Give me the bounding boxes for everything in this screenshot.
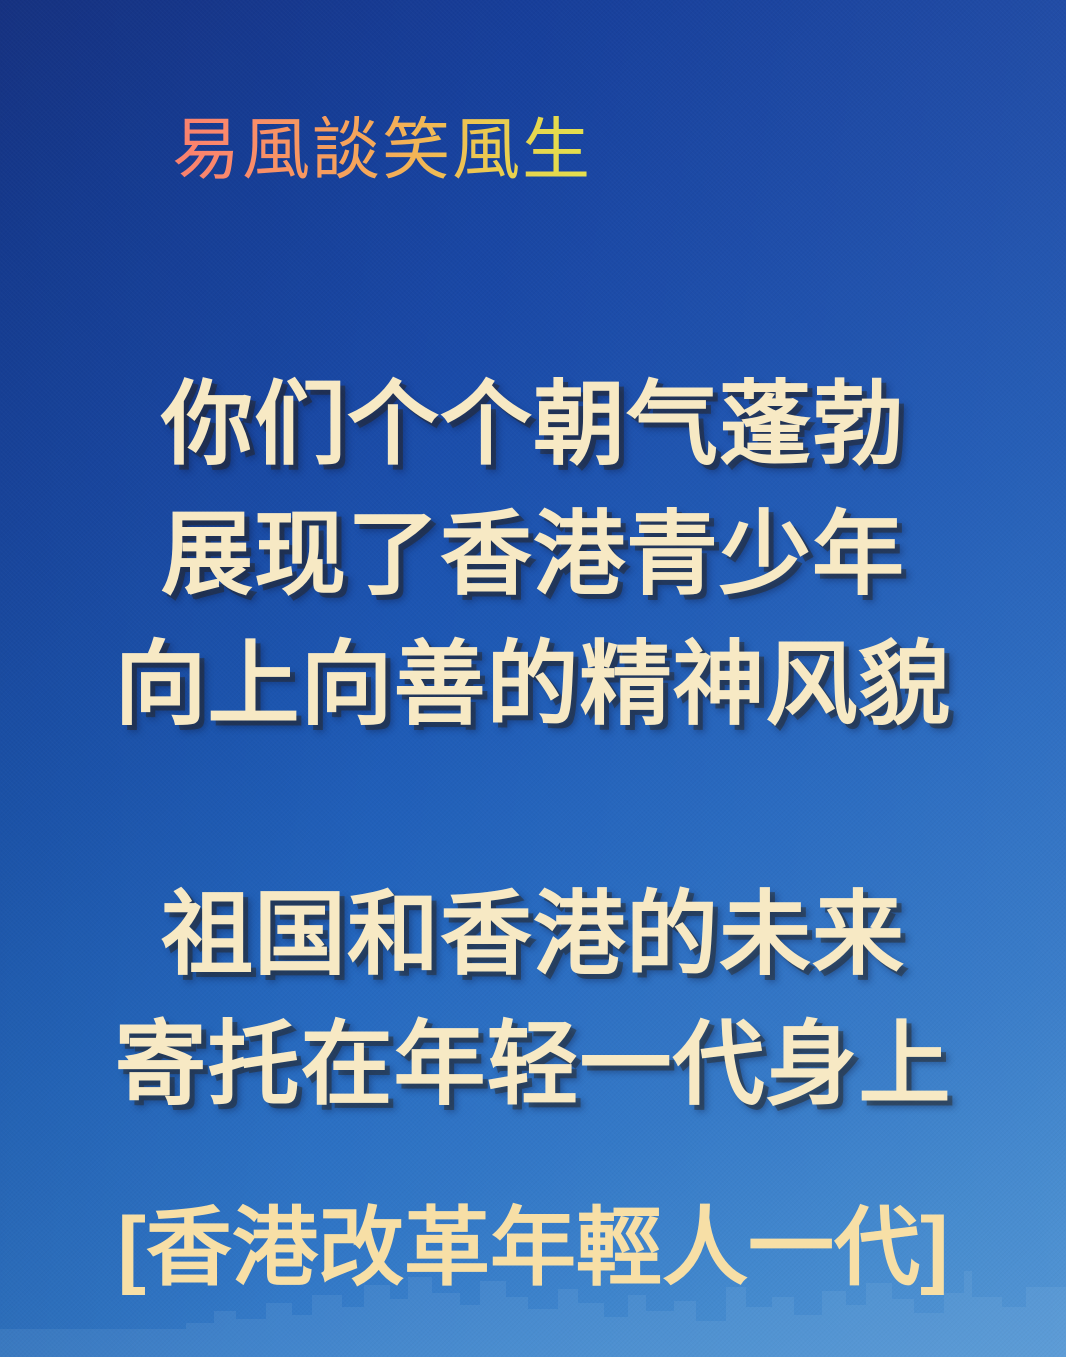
quote-line: 展现了香港青少年 xyxy=(0,490,1066,620)
channel-watermark: 易風談笑風生 xyxy=(172,116,592,184)
topic-tagline: [香港改革年輕人一代] xyxy=(0,1196,1066,1300)
quote-line: 你们个个朝气蓬勃 xyxy=(0,360,1066,490)
quote-line: 向上向善的精神风貌 xyxy=(0,620,1066,750)
quote-paragraph-2: 祖国和香港的未来 寄托在年轻一代身上 xyxy=(0,870,1066,1130)
quote-paragraph-1: 你们个个朝气蓬勃 展现了香港青少年 向上向善的精神风貌 xyxy=(0,360,1066,750)
quote-line: 祖国和香港的未来 xyxy=(0,870,1066,1000)
quote-line: 寄托在年轻一代身上 xyxy=(0,1000,1066,1130)
quote-card: 易風談笑風生 你们个个朝气蓬勃 展现了香港青少年 向上向善的精神风貌 祖国和香港… xyxy=(0,0,1066,1357)
paragraph-spacer xyxy=(0,750,1066,870)
quote-block: 你们个个朝气蓬勃 展现了香港青少年 向上向善的精神风貌 祖国和香港的未来 寄托在… xyxy=(0,360,1066,1130)
